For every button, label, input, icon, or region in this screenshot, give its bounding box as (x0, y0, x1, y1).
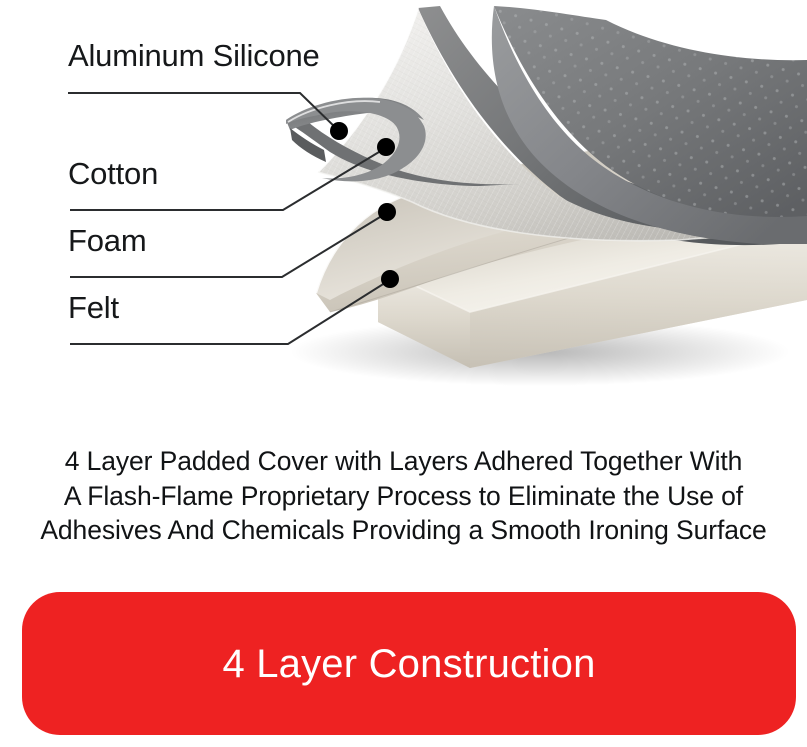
four-layer-construction-banner[interactable]: 4 Layer Construction (22, 592, 796, 735)
dot-foam (378, 203, 396, 221)
description-line-3: Adhesives And Chemicals Providing a Smoo… (0, 513, 807, 548)
dot-aluminum-silicone (330, 122, 348, 140)
description-line-2: A Flash-Flame Proprietary Process to Eli… (0, 479, 807, 514)
cta-button-label: 4 Layer Construction (222, 644, 595, 684)
description-line-1: 4 Layer Padded Cover with Layers Adhered… (0, 444, 807, 479)
callout-label-aluminum-silicone: Aluminum Silicone (68, 40, 320, 71)
callout-label-felt: Felt (68, 292, 119, 323)
callout-label-foam: Foam (68, 225, 146, 256)
dot-cotton (377, 138, 395, 156)
description-paragraph: 4 Layer Padded Cover with Layers Adhered… (0, 444, 807, 548)
callout-label-cotton: Cotton (68, 158, 158, 189)
product-infographic: Aluminum Silicone Cotton Foam Felt 4 Lay… (0, 0, 807, 747)
dot-felt (381, 270, 399, 288)
